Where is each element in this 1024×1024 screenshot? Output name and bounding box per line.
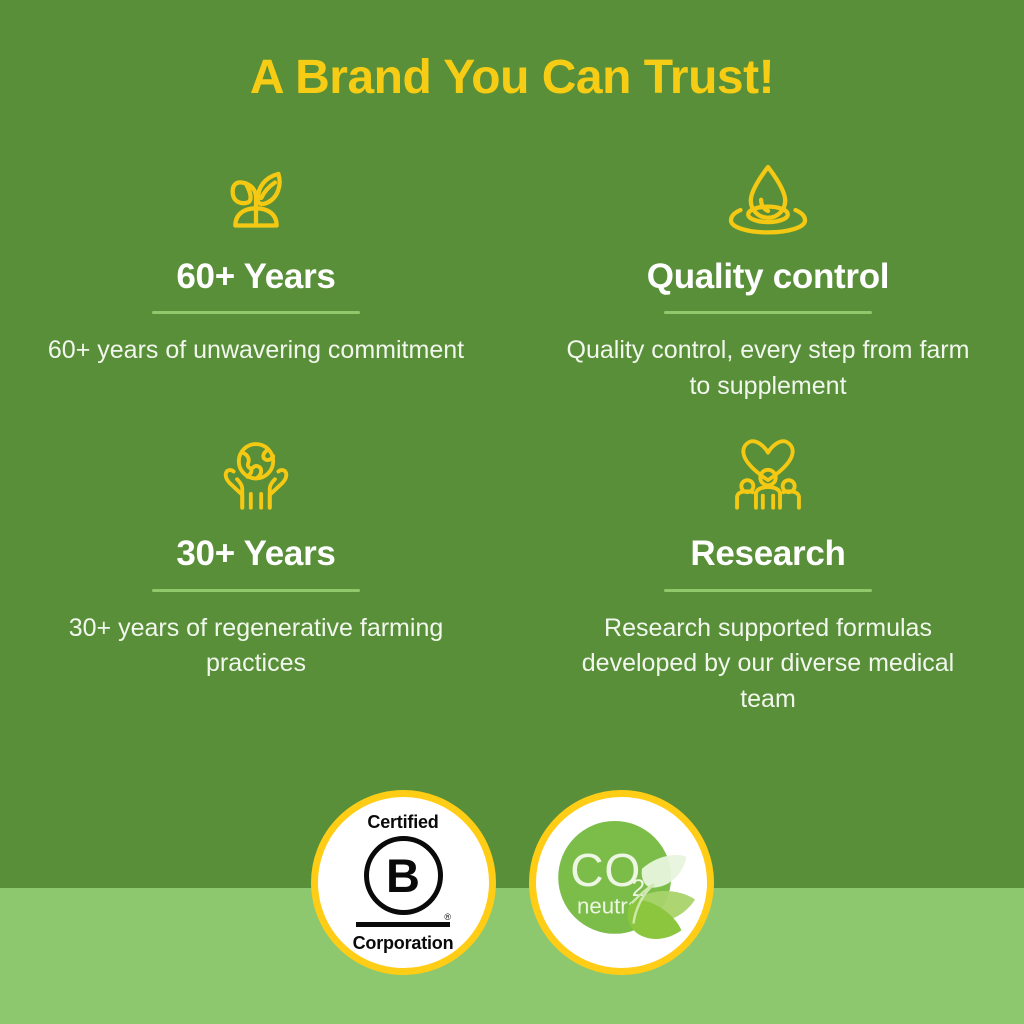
bcorp-b-mark: B	[364, 836, 443, 915]
bcorp-rule: ®	[356, 922, 450, 927]
people-heart-team-icon	[725, 432, 811, 518]
svg-text:CO: CO	[570, 844, 641, 896]
feature-heading: 30+ Years	[176, 534, 335, 574]
feature-body: 30+ years of regenerative farming practi…	[46, 611, 466, 682]
page-title: A Brand You Can Trust!	[0, 52, 1024, 105]
co2-neutral-badge: CO 2 neutral	[529, 790, 714, 975]
seedling-sprout-icon	[213, 155, 299, 241]
feature-divider	[152, 311, 360, 314]
bcorp-certified-label: Certified	[367, 813, 438, 831]
feature-grid: 60+ Years 60+ years of unwavering commit…	[0, 155, 1024, 717]
feature-divider	[664, 311, 872, 314]
feature-heading: Research	[690, 534, 845, 574]
feature-body: Research supported formulas developed by…	[558, 611, 978, 718]
feature-card-research: Research Research supported formulas dev…	[512, 432, 1024, 717]
water-droplet-ripple-icon	[725, 155, 811, 241]
registered-trademark-icon: ®	[444, 913, 451, 922]
hands-holding-globe-icon	[213, 432, 299, 518]
feature-card-years-60: 60+ Years 60+ years of unwavering commit…	[0, 155, 512, 404]
feature-body: 60+ years of unwavering commitment	[48, 333, 464, 369]
b-corporation-badge: Certified B ® Corporation	[311, 790, 496, 975]
feature-heading: Quality control	[647, 257, 889, 297]
certification-badges: Certified B ® Corporation CO 2 neutral	[0, 790, 1024, 975]
feature-divider	[152, 589, 360, 592]
bcorp-corporation-label: Corporation	[353, 934, 454, 952]
feature-card-years-30: 30+ Years 30+ years of regenerative farm…	[0, 432, 512, 717]
feature-divider	[664, 589, 872, 592]
feature-heading: 60+ Years	[176, 257, 335, 297]
brand-trust-infographic: A Brand You Can Trust! 60+ Years 60+ yea…	[0, 0, 1024, 1024]
feature-card-quality-control: Quality control Quality control, every s…	[512, 155, 1024, 404]
feature-body: Quality control, every step from farm to…	[558, 333, 978, 404]
